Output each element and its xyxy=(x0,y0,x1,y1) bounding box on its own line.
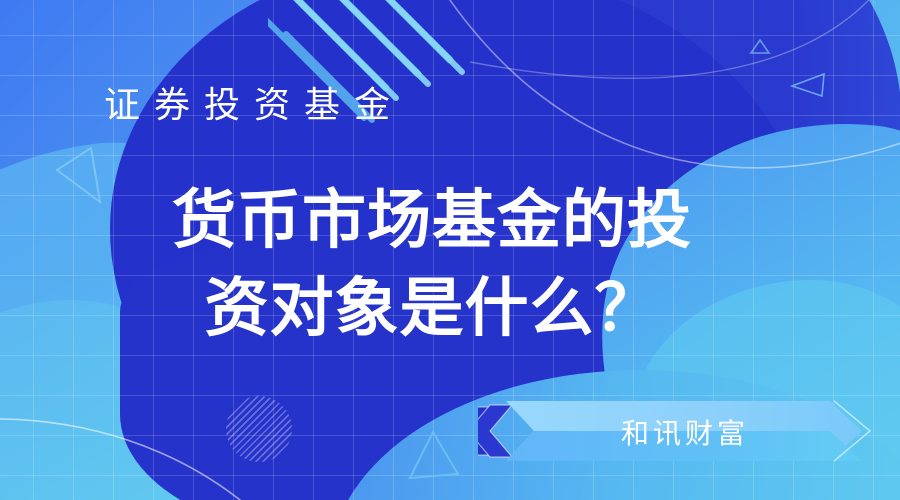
page-title: 货币市场基金的投 资对象是什么？ xyxy=(112,176,752,352)
poster-kicker: 证券投资基金 xyxy=(104,76,404,128)
striped-circle-decoration xyxy=(226,396,292,462)
poster-canvas: 证券投资基金 货币市场基金的投 资对象是什么？ xyxy=(0,0,900,500)
ribbon-chevron-inner xyxy=(478,405,512,457)
brand-name: 和讯财富 xyxy=(570,412,800,452)
